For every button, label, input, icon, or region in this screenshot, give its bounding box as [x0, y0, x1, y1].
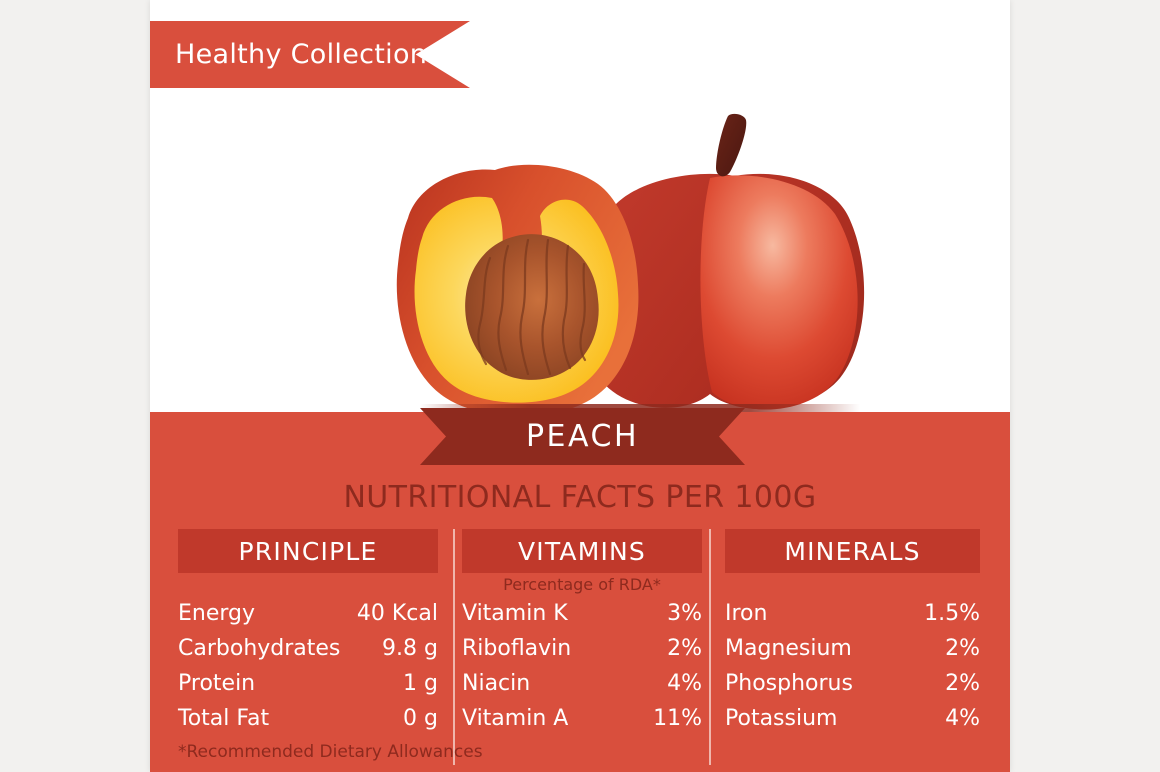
- infographic-page: Healthy Collection: [0, 0, 1160, 772]
- list-item: Riboflavin 2%: [462, 636, 702, 671]
- row-label: Iron: [725, 601, 767, 626]
- row-label: Carbohydrates: [178, 636, 340, 661]
- list-item: Carbohydrates 9.8 g: [178, 636, 438, 671]
- row-value: 9.8 g: [382, 636, 438, 661]
- column-vitamins-header: VITAMINS: [462, 529, 702, 573]
- row-value: 1 g: [403, 671, 438, 696]
- column-principle: PRINCIPLE Energy 40 Kcal Carbohydrates 9…: [178, 529, 438, 741]
- list-item: Vitamin A 11%: [462, 706, 702, 741]
- row-label: Riboflavin: [462, 636, 571, 661]
- row-value: 3%: [667, 601, 702, 626]
- column-minerals-heading: MINERALS: [784, 537, 920, 566]
- peach-stem-icon: [716, 114, 746, 176]
- row-label: Niacin: [462, 671, 530, 696]
- row-label: Phosphorus: [725, 671, 853, 696]
- infographic-card: Healthy Collection: [150, 0, 1010, 772]
- column-minerals: MINERALS Iron 1.5% Magnesium 2%: [725, 529, 980, 741]
- collection-ribbon-label: Healthy Collection: [150, 39, 427, 70]
- collection-ribbon: Healthy Collection: [150, 21, 470, 88]
- list-item: Iron 1.5%: [725, 601, 980, 636]
- list-item: Total Fat 0 g: [178, 706, 438, 741]
- peach-illustration: [150, 88, 1010, 414]
- footnote: *Recommended Dietary Allowances: [178, 742, 483, 762]
- column-divider-1: [453, 529, 455, 765]
- row-label: Vitamin A: [462, 706, 568, 731]
- column-vitamins-rows: Vitamin K 3% Riboflavin 2% Niacin 4% V: [462, 597, 702, 741]
- row-value: 4%: [667, 671, 702, 696]
- row-label: Vitamin K: [462, 601, 568, 626]
- row-value: 0 g: [403, 706, 438, 731]
- list-item: Phosphorus 2%: [725, 671, 980, 706]
- list-item: Vitamin K 3%: [462, 601, 702, 636]
- peach-pit-icon: [465, 234, 599, 380]
- fruit-name-label: PEACH: [526, 419, 639, 454]
- column-principle-heading: PRINCIPLE: [239, 537, 378, 566]
- list-item: Niacin 4%: [462, 671, 702, 706]
- row-value: 4%: [945, 706, 980, 731]
- row-label: Protein: [178, 671, 255, 696]
- list-item: Potassium 4%: [725, 706, 980, 741]
- column-minerals-header: MINERALS: [725, 529, 980, 573]
- column-principle-note-spacer: [178, 575, 438, 597]
- column-vitamins: VITAMINS Percentage of RDA* Vitamin K 3%…: [462, 529, 702, 741]
- row-label: Magnesium: [725, 636, 852, 661]
- rda-note: Percentage of RDA*: [462, 575, 702, 595]
- list-item: Magnesium 2%: [725, 636, 980, 671]
- list-item: Protein 1 g: [178, 671, 438, 706]
- column-minerals-note-spacer: [725, 575, 980, 597]
- row-value: 2%: [945, 671, 980, 696]
- row-value: 2%: [667, 636, 702, 661]
- row-value: 11%: [653, 706, 702, 731]
- row-value: 2%: [945, 636, 980, 661]
- nutrition-subtitle: NUTRITIONAL FACTS PER 100G: [150, 480, 1010, 515]
- column-minerals-rows: Iron 1.5% Magnesium 2% Phosphorus 2% P: [725, 597, 980, 741]
- nutrition-columns: PRINCIPLE Energy 40 Kcal Carbohydrates 9…: [150, 529, 1010, 769]
- row-label: Total Fat: [178, 706, 269, 731]
- list-item: Energy 40 Kcal: [178, 601, 438, 636]
- nutrition-panel: PEACH NUTRITIONAL FACTS PER 100G PRINCIP…: [150, 412, 1010, 772]
- column-divider-2: [709, 529, 711, 765]
- peach-half-icon: [397, 165, 639, 414]
- row-label: Potassium: [725, 706, 837, 731]
- row-value: 40 Kcal: [357, 601, 438, 626]
- fruit-name-ribbon: PEACH: [420, 408, 745, 465]
- column-principle-rows: Energy 40 Kcal Carbohydrates 9.8 g Prote…: [178, 597, 438, 741]
- row-value: 1.5%: [924, 601, 980, 626]
- row-label: Energy: [178, 601, 255, 626]
- column-principle-header: PRINCIPLE: [178, 529, 438, 573]
- column-vitamins-heading: VITAMINS: [518, 537, 646, 566]
